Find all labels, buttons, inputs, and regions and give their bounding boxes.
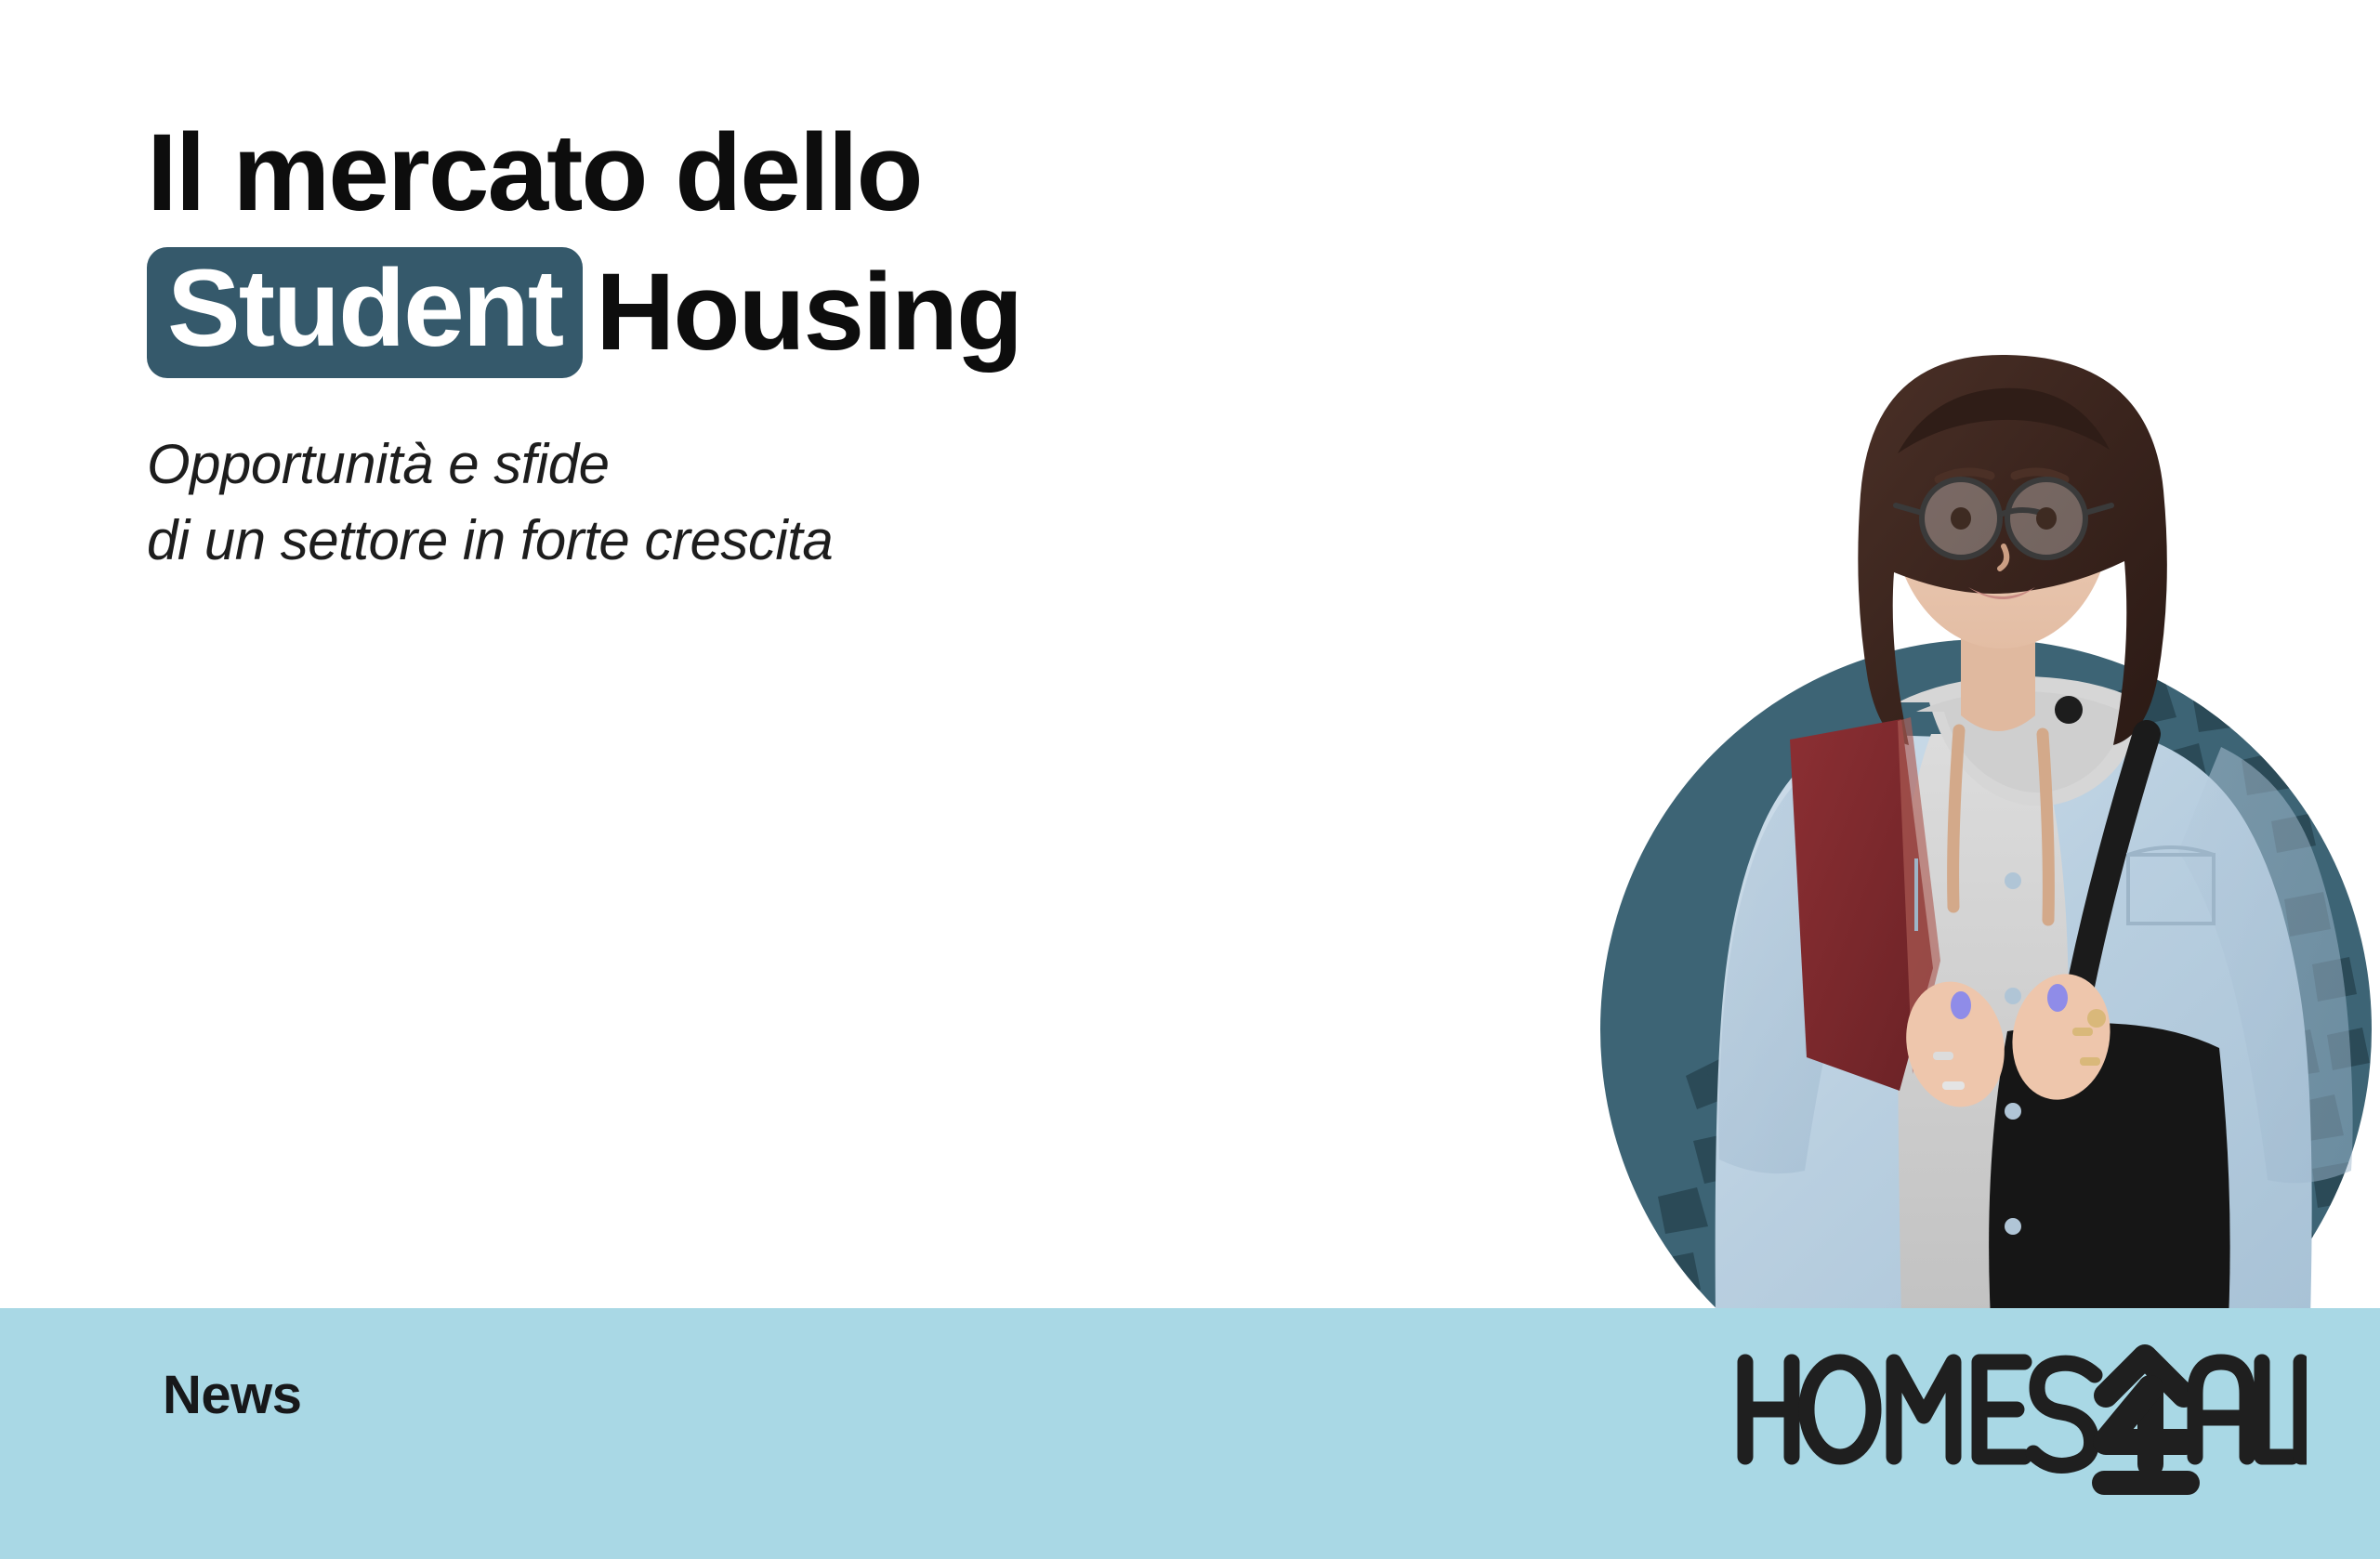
student-photo	[1571, 297, 2380, 1319]
headline-line-1: Il mercato dello	[147, 111, 1541, 234]
homes4all-logo[interactable]: HOMES4ALL	[1730, 1299, 2307, 1513]
page-title: Il mercato dello Student Housing	[147, 111, 1541, 378]
banner-category-label: News	[163, 1364, 302, 1426]
news-banner-canvas: News	[0, 0, 2380, 1559]
headline-housing-word: Housing	[583, 251, 1021, 373]
subtitle-line-1: Opportunità e sfide	[147, 426, 1541, 504]
subtitle-line-2: di un settore in forte crescita	[147, 503, 1541, 580]
student-highlight-pill: Student	[147, 247, 583, 377]
headline-line-2: Student Housing	[147, 247, 1541, 377]
headline-block: Il mercato dello Student Housing Opportu…	[147, 111, 1541, 580]
page-subtitle: Opportunità e sfide di un settore in for…	[147, 426, 1541, 581]
